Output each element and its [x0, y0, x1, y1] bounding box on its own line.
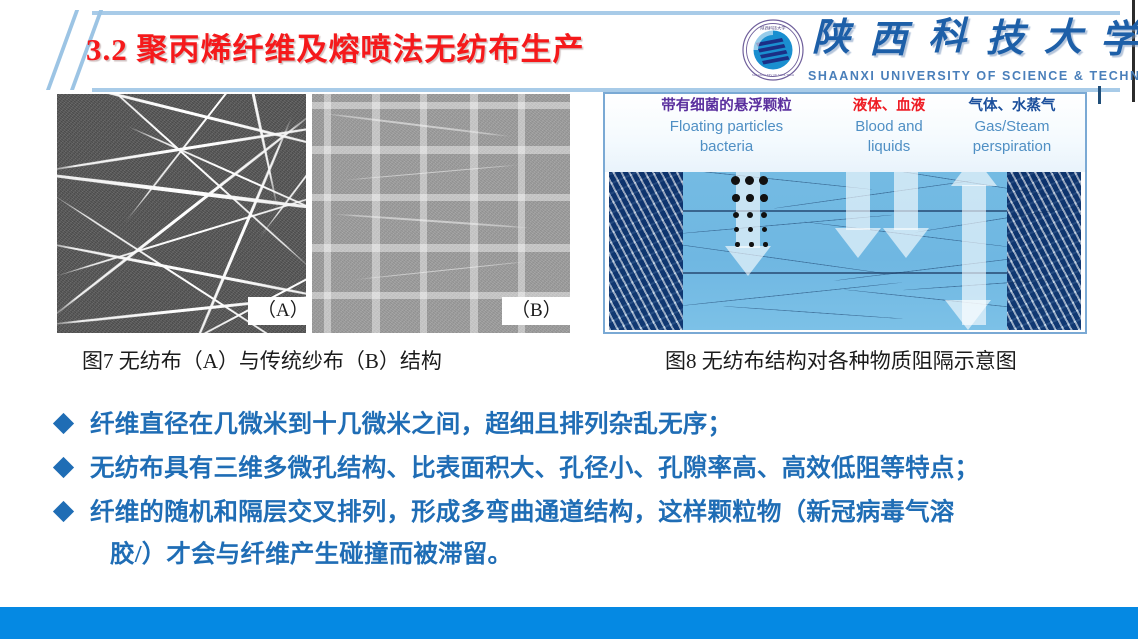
figure8-fibre-web — [683, 172, 1007, 330]
bullet-1-line-1: 纤维直径在几微米到十几微米之间，超细且排列杂乱无序； — [90, 411, 732, 438]
diamond-bullet-icon — [53, 457, 74, 478]
university-logo: 陕西科技大学 SHAANXI UNIV OF SCI & TECH 陕 西 科 … — [742, 17, 1134, 89]
logo-char-6: 学 — [1100, 21, 1138, 59]
bullet-3-line-1: 纤维的随机和隔层交叉排列，形成多弯曲通道结构，这样颗粒物（新冠病毒气溶 — [90, 499, 955, 526]
shaanxi-university-emblem-icon: 陕西科技大学 SHAANXI UNIV OF SCI & TECH — [742, 19, 804, 81]
footer-bar — [0, 607, 1138, 639]
logo-char-3: 科 — [928, 18, 966, 56]
figure8-column-liquids: 液体、血液 Blood and liquids — [833, 98, 945, 155]
diamond-bullet-icon — [53, 501, 74, 522]
bullet-list: 纤维直径在几微米到十几微米之间，超细且排列杂乱无序； 无纺布具有三维多微孔结构、… — [52, 404, 1112, 578]
page-title: 3.2 聚丙烯纤维及熔喷法无纺布生产 — [86, 24, 585, 69]
header-rule-top — [92, 11, 1120, 15]
bullet-2-line-1: 无纺布具有三维多微孔结构、比表面积大、孔径小、孔隙率高、高效低阻等特点； — [90, 455, 979, 482]
figure8-col2-en-line2: liquids — [833, 138, 945, 155]
figure8-column-particles: 带有细菌的悬浮颗粒 Floating particles bacteria — [619, 98, 834, 155]
figure8-col2-cn: 液体、血液 — [833, 98, 945, 115]
svg-text:陕西科技大学: 陕西科技大学 — [760, 25, 785, 32]
figure8-sem-left — [609, 172, 683, 330]
bullet-item-3: 纤维的随机和隔层交叉排列，形成多弯曲通道结构，这样颗粒物（新冠病毒气溶 胶/）才… — [52, 492, 1112, 576]
figure8-column-gas: 气体、水蒸气 Gas/Steam perspiration — [945, 98, 1079, 155]
logo-english-name: SHAANXI UNIVERSITY OF SCIENCE & TECHNOLO… — [808, 69, 1133, 83]
bullet-3-line-2: 胶/）才会与纤维产生碰撞而被滞留。 — [90, 534, 1112, 576]
figure8-col3-cn: 气体、水蒸气 — [945, 98, 1079, 115]
bullet-item-2: 无纺布具有三维多微孔结构、比表面积大、孔径小、孔隙率高、高效低阻等特点； — [52, 448, 1112, 490]
figure7-image: （A） （B） — [57, 94, 570, 333]
bullet-item-1: 纤维直径在几微米到十几微米之间，超细且排列杂乱无序； — [52, 404, 1112, 446]
logo-char-2: 西 — [869, 21, 907, 59]
panel-a-label: （A） — [248, 297, 306, 325]
figure7-panel-b: （B） — [312, 94, 570, 333]
figure8-legend-header: 带有细菌的悬浮颗粒 Floating particles bacteria 液体… — [605, 94, 1085, 172]
panel-b-label: （B） — [502, 297, 570, 325]
figure8-col1-en-line1: Floating particles — [619, 118, 834, 135]
figure8-col2-en-line1: Blood and — [833, 118, 945, 135]
logo-char-1: 陕 — [812, 19, 850, 57]
logo-char-4: 技 — [986, 20, 1024, 58]
figure8-caption: 图8 无纺布结构对各种物质阻隔示意图 — [665, 345, 1017, 375]
figure8-col1-en-line2: bacteria — [619, 138, 834, 155]
svg-text:SHAANXI UNIV OF SCI & TECH: SHAANXI UNIV OF SCI & TECH — [752, 73, 794, 77]
figure8-fabric-cross-section — [609, 172, 1081, 330]
figure8-col3-en-line1: Gas/Steam — [945, 118, 1079, 135]
figure7-panel-a: （A） — [57, 94, 306, 333]
figure8-image: 带有细菌的悬浮颗粒 Floating particles bacteria 液体… — [603, 92, 1087, 334]
figure8-col3-en-line2: perspiration — [945, 138, 1079, 155]
figure8-col1-cn: 带有细菌的悬浮颗粒 — [619, 98, 834, 115]
figure8-sem-right — [1007, 172, 1081, 330]
logo-chinese-name: 陕 西 科 技 大 学 — [812, 17, 1130, 65]
figure7-caption: 图7 无纺布（A）与传统纱布（B）结构 — [82, 345, 442, 375]
slide-canvas: 3.2 聚丙烯纤维及熔喷法无纺布生产 陕西科技大学 SHAANXI UNIV O… — [0, 0, 1138, 639]
logo-char-5: 大 — [1044, 19, 1082, 57]
diamond-bullet-icon — [53, 413, 74, 434]
